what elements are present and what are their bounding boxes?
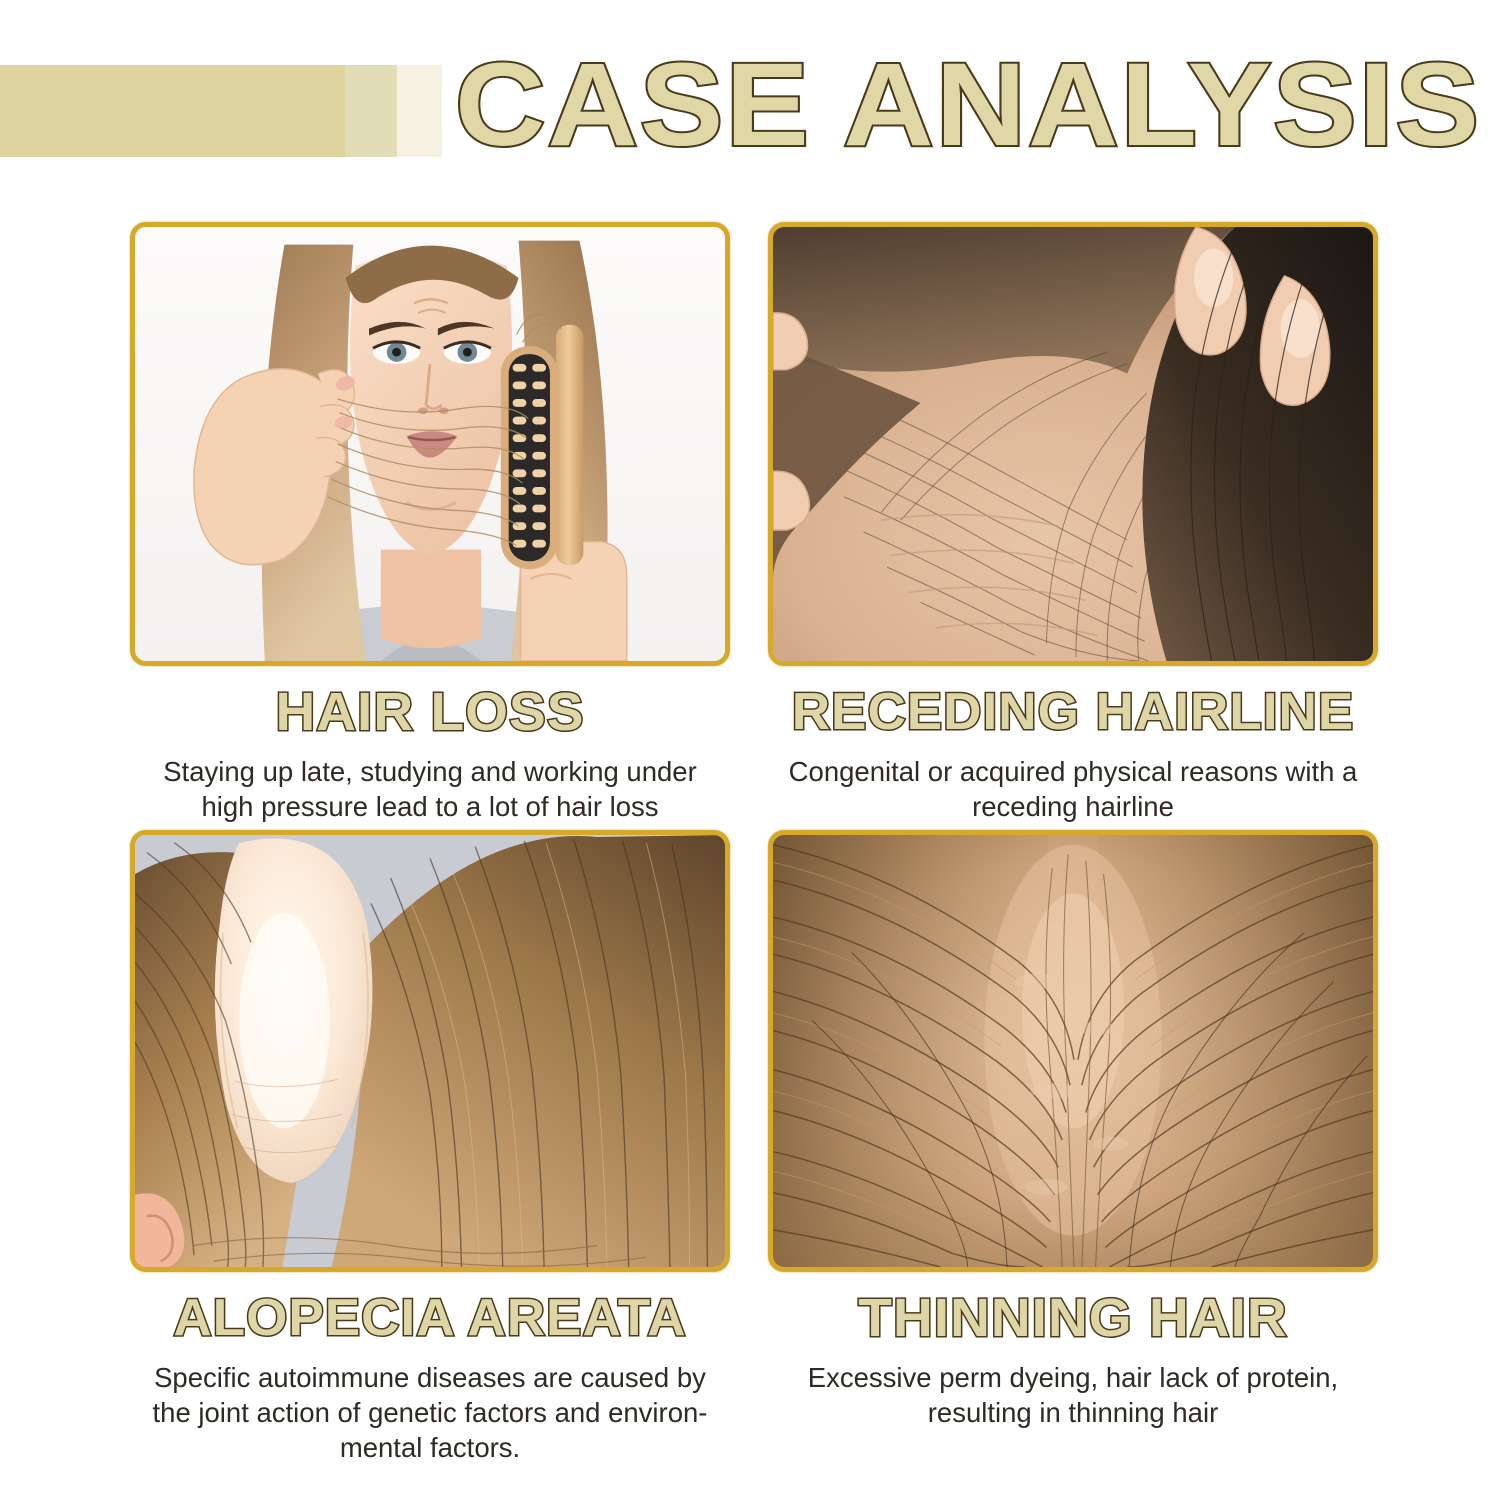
photo-frame-thinning-hair: [768, 830, 1378, 1272]
card-heading-alopecia-areata: ALOPECIA AREATA: [124, 1288, 736, 1348]
card-description-receding-hairline: Congenital or acquired physical reasons …: [768, 754, 1378, 824]
case-card-hair-loss: HAIR LOSS Staying up late, studying and …: [130, 222, 730, 824]
photo-frame-hair-loss: [130, 222, 730, 666]
card-description-hair-loss: Staying up late, studying and working un…: [130, 754, 730, 824]
photo-hair-loss: [135, 227, 725, 661]
photo-receding-hairline: [773, 227, 1373, 661]
card-heading-receding-hairline: RECEDING HAIRLINE: [762, 682, 1384, 742]
photo-thinning-hair: [773, 835, 1373, 1267]
card-description-thinning-hair: Excessive perm dyeing, hair lack of prot…: [768, 1360, 1378, 1430]
photo-alopecia-areata: [135, 835, 725, 1267]
case-analysis-infographic: CASE ANALYSIS: [0, 0, 1500, 1500]
case-card-alopecia-areata: ALOPECIA AREATA Specific autoimmune dise…: [130, 830, 730, 1465]
photo-frame-alopecia-areata: [130, 830, 730, 1272]
band-segment-dark: [0, 65, 345, 157]
band-segment-light: [397, 65, 442, 157]
photo-frame-receding-hairline: [768, 222, 1378, 666]
case-card-receding-hairline: RECEDING HAIRLINE Congenital or acquired…: [768, 222, 1378, 824]
page-title: CASE ANALYSIS: [455, 40, 1388, 170]
card-heading-thinning-hair: THINNING HAIR: [762, 1288, 1384, 1348]
card-heading-hair-loss: HAIR LOSS: [124, 682, 736, 742]
case-card-thinning-hair: THINNING HAIR Excessive perm dyeing, hai…: [768, 830, 1378, 1430]
header-accent-band: [0, 65, 442, 157]
card-description-alopecia-areata: Specific autoimmune diseases are caused …: [130, 1360, 730, 1465]
band-segment-mid: [345, 65, 397, 157]
